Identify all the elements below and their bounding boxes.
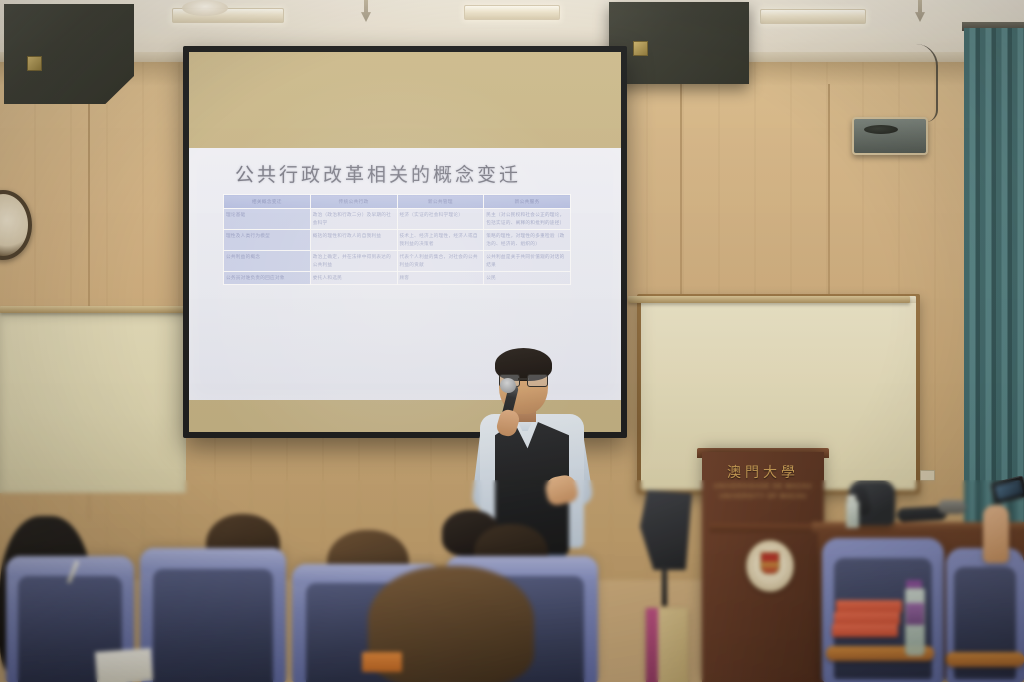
- seat-armrest: [946, 652, 1024, 667]
- slide-cell: 委托人和选民: [310, 272, 397, 285]
- water-bottle-on-seat[interactable]: [905, 588, 925, 656]
- glasses-lens-right: [527, 374, 548, 387]
- ceiling-downlight-icon: [182, 0, 228, 16]
- speaker-badge-icon: [27, 56, 42, 71]
- red-box: [832, 624, 898, 637]
- slide-col-3: 新公共服务: [484, 195, 571, 209]
- slide-cell: 概括的理性和行政人的自我利益: [310, 230, 397, 251]
- slide-col-0: 相关概念变迁: [224, 195, 311, 209]
- slide-table-row: 理论基础 政治（政治和行政二分）及早期的社会科学 经济（实证的社会科学理论） 民…: [224, 209, 571, 230]
- slide-col-1: 传统公共行政: [310, 195, 397, 209]
- whiteboard-left: [0, 313, 186, 493]
- orange-object: [362, 652, 402, 672]
- university-seal: [746, 540, 794, 592]
- slide-row-label: 理论基础: [224, 209, 311, 230]
- window-curtain[interactable]: [964, 28, 1024, 528]
- slide-cell: 公民: [484, 272, 571, 285]
- speaker-badge-icon: [633, 41, 648, 56]
- slide-table-row: 公共利益的概念 政治上确定，并在法律中得到表达的公共利益 代表个人利益的集合，对…: [224, 251, 571, 272]
- ceiling-light-right-icon: [760, 9, 866, 24]
- ceiling-light-mid-icon: [464, 5, 560, 20]
- phone-screen: [995, 480, 1024, 500]
- device-lens-icon: [864, 125, 898, 134]
- slide-cell: 政治（政治和行政二分）及早期的社会科学: [310, 209, 397, 230]
- wall-speaker-right: [609, 2, 749, 84]
- cardboard-boxes: [646, 608, 688, 682]
- water-bottle-on-table[interactable]: [846, 500, 859, 528]
- slide-table-header-row: 相关概念变迁 传统公共行政 新公共管理 新公共服务: [224, 195, 571, 209]
- slide-row-label: 公共利益的概念: [224, 251, 311, 272]
- stacked-red-boxes[interactable]: [836, 600, 902, 634]
- slide-cell: 技术上、经济上的理性，经济人或自我利益的决策者: [397, 230, 484, 251]
- wall-outlet: [920, 470, 935, 481]
- podium-name-en: UNIVERSITY OF MACAU: [702, 493, 824, 500]
- chair-stem: [662, 566, 667, 606]
- lecture-seat[interactable]: [140, 548, 286, 682]
- slide-cell: 政治上确定，并在法律中得到表达的公共利益: [310, 251, 397, 272]
- device-cable: [906, 44, 938, 122]
- ceiling-mounted-device: [852, 117, 928, 155]
- whiteboard-right-tray: [628, 296, 910, 303]
- slide-cell: 民主（对公民权和社会公正的理论，包括实证的、阐释的和批判的途径）: [484, 209, 571, 230]
- slide-table-row: 理性及人类行为模型 概括的理性和行政人的自我利益 技术上、经济上的理性，经济人或…: [224, 230, 571, 251]
- slide-row-label: 理性及人类行为模型: [224, 230, 311, 251]
- slide-title: 公共行政改革相关的概念变迁: [235, 160, 521, 187]
- slide-row-label: 公务员对谁负责的回应对象: [224, 272, 311, 285]
- cardboard-stripe: [646, 608, 658, 682]
- lectern[interactable]: 澳門大學 UNIVERSIDADE DE MACAU UNIVERSITY OF…: [702, 452, 824, 682]
- bottle-label: [906, 603, 924, 625]
- seal-crest-icon: [761, 552, 780, 574]
- slide-cell: 代表个人利益的集合，对社会的公共利益的贡献: [397, 251, 484, 272]
- podium-ledge: [710, 524, 816, 532]
- slide-cell: 经济（实证的社会科学理论）: [397, 209, 484, 230]
- podium-name-pt: UNIVERSIDADE DE MACAU: [702, 483, 824, 490]
- slide-table: 相关概念变迁 传统公共行政 新公共管理 新公共服务 理论基础 政治（政治和行政二…: [223, 194, 571, 285]
- seat-back-face: [153, 569, 273, 682]
- lecture-hall-photo: 公共行政改革相关的概念变迁 相关概念变迁 传统公共行政 新公共管理 新公共服务 …: [0, 0, 1024, 682]
- slide-col-2: 新公共管理: [397, 195, 484, 209]
- notepad[interactable]: [95, 648, 153, 682]
- whiteboard-left-tray: [0, 306, 190, 313]
- slide-cell: 策略的理性，对理性的多重检验（政治的、经济的、组织的）: [484, 230, 571, 251]
- slide-cell: 公共利益是关于共同价值观的对话的结果: [484, 251, 571, 272]
- slide-table-row: 公务员对谁负责的回应对象 委托人和选民 顾客 公民: [224, 272, 571, 285]
- podium-name-cn: 澳門大學: [702, 462, 824, 482]
- slide-cell: 顾客: [397, 272, 484, 285]
- grey-item-on-table[interactable]: [938, 500, 966, 514]
- audience-hand: [983, 505, 1009, 563]
- wall-speaker-left: [4, 4, 134, 104]
